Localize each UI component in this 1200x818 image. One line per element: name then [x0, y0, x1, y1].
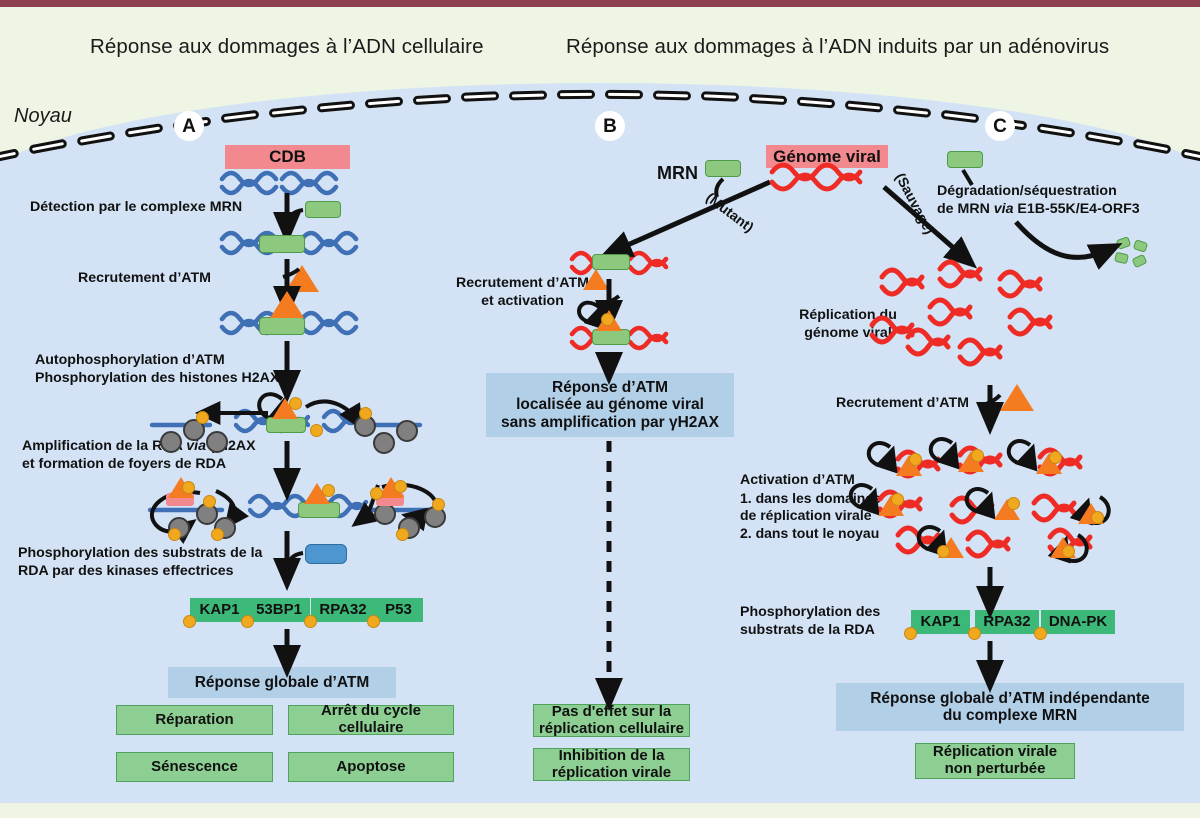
phosphate-circle-icon [1049, 451, 1062, 464]
phosphate-circle-icon [396, 528, 409, 541]
phosphate-circle-icon [432, 498, 445, 511]
phosphate-circle-icon [359, 407, 372, 420]
viral-genome-dna [772, 165, 860, 189]
phosphate-circle-icon [971, 449, 984, 462]
phosphate-circle-icon [370, 487, 383, 500]
figure-canvas: Réponse aux dommages à l’ADN cellulaire … [0, 0, 1200, 818]
nucleosome-circle-icon [374, 503, 396, 525]
phosphate-circle-icon [909, 453, 922, 466]
phosphate-circle-icon [937, 545, 950, 558]
nucleosome-circle-icon [160, 431, 182, 453]
phosphate-circle-icon [310, 424, 323, 437]
mrn-pointer-line [963, 170, 972, 185]
nucleosome-circle-icon [396, 420, 418, 442]
phosphate-circle-icon [289, 397, 302, 410]
phosphate-circle-icon [891, 493, 904, 506]
atm-triangle-icon [270, 291, 304, 318]
phosphate-circle-icon [601, 313, 614, 326]
sauvage-pathway-arrow [884, 187, 965, 258]
mrn-complex-icon [259, 317, 305, 335]
dna-duplex-broken [222, 173, 336, 193]
nucleosome-circle-icon [373, 432, 395, 454]
mrn-hook-b [716, 179, 723, 197]
mrn-complex-icon [298, 502, 340, 518]
degradation-arrow [1016, 222, 1108, 257]
mutant-pathway-arrow [614, 182, 770, 251]
phosphate-circle-icon [1062, 545, 1075, 558]
phosphate-circle-icon [1091, 511, 1104, 524]
mrn-complex-icon [259, 235, 305, 253]
diagram-graphics [0, 7, 1200, 818]
phosphate-circle-icon [211, 528, 224, 541]
phosphate-circle-icon [394, 480, 407, 493]
phosphate-circle-icon [322, 484, 335, 497]
mrn-complex-icon [266, 417, 306, 433]
phosphate-circle-icon [1007, 497, 1020, 510]
replicated-viral-genomes [872, 262, 1050, 364]
phosphate-circle-icon [182, 481, 195, 494]
phosphate-circle-icon [168, 528, 181, 541]
phosphate-circle-icon [203, 495, 216, 508]
mrn-complex-icon [592, 329, 630, 345]
nucleosome-circle-icon [206, 431, 228, 453]
phosphate-circle-icon [196, 411, 209, 424]
mrn-complex-icon [592, 254, 630, 270]
